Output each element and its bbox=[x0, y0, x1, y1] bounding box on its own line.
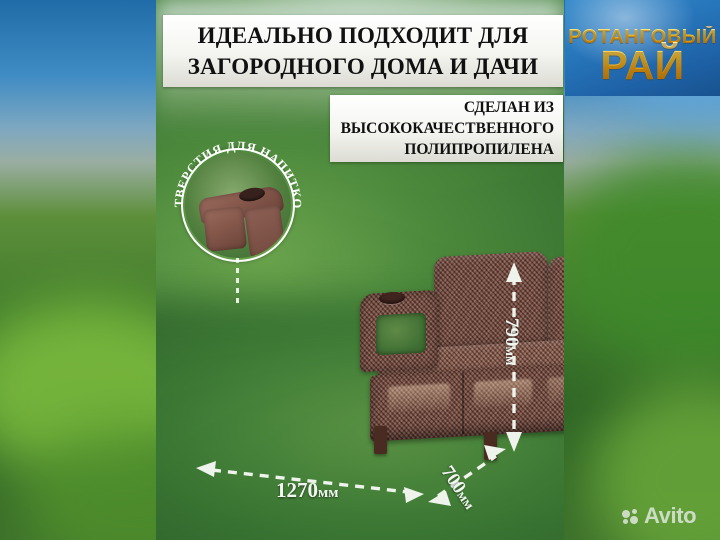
subheadline-band: СДЕЛАН ИЗ ВЫСОКОКАЧЕСТВЕННОГО ПОЛИПРОПИЛ… bbox=[330, 95, 563, 162]
rattan-sofa bbox=[352, 250, 564, 455]
subheadline-line-3: ПОЛИПРОПИЛЕНА bbox=[404, 139, 554, 160]
cupholder-callout: ОТВЕРСТИЯ ДЛЯ НАПИТКОВ bbox=[181, 148, 295, 262]
callout-label: ОТВЕРСТИЯ ДЛЯ НАПИТКОВ bbox=[174, 141, 302, 269]
sofa-leg bbox=[484, 432, 497, 460]
sofa-back-cushion-left bbox=[434, 251, 548, 353]
headline-line-1: ИДЕАЛЬНО ПОДХОДИТ ДЛЯ bbox=[198, 20, 529, 51]
subheadline-line-2: ВЫСОКОКАЧЕСТВЕННОГО bbox=[341, 118, 554, 139]
ad-image: 1270мм 700мм 790мм ОТВЕРСТИЯ ДЛЯ НАПИТКО… bbox=[0, 0, 720, 540]
headline-line-2: ЗАГОРОДНОГО ДОМА И ДАЧИ bbox=[188, 51, 538, 82]
headline-band: ИДЕАЛЬНО ПОДХОДИТ ДЛЯ ЗАГОРОДНОГО ДОМА И… bbox=[163, 15, 563, 87]
avito-dots-logo-icon bbox=[622, 509, 639, 524]
brand-logo-badge: РОТАНГОВЫЙ РАЙ bbox=[565, 0, 720, 96]
armrest-left-opening bbox=[376, 312, 426, 355]
sofa-leg bbox=[374, 426, 387, 454]
sofa-back-cushion-right bbox=[548, 251, 564, 354]
dimension-width-label: 1270мм bbox=[276, 478, 338, 503]
avito-wordmark: Avito bbox=[644, 503, 696, 529]
subheadline-line-1: СДЕЛАН ИЗ bbox=[464, 97, 554, 118]
svg-text:ОТВЕРСТИЯ ДЛЯ НАПИТКОВ: ОТВЕРСТИЯ ДЛЯ НАПИТКОВ bbox=[174, 141, 302, 209]
logo-word-bottom: РАЙ bbox=[565, 42, 720, 88]
dimension-height-label: 790мм bbox=[500, 318, 522, 366]
avito-watermark: Avito bbox=[622, 503, 696, 529]
